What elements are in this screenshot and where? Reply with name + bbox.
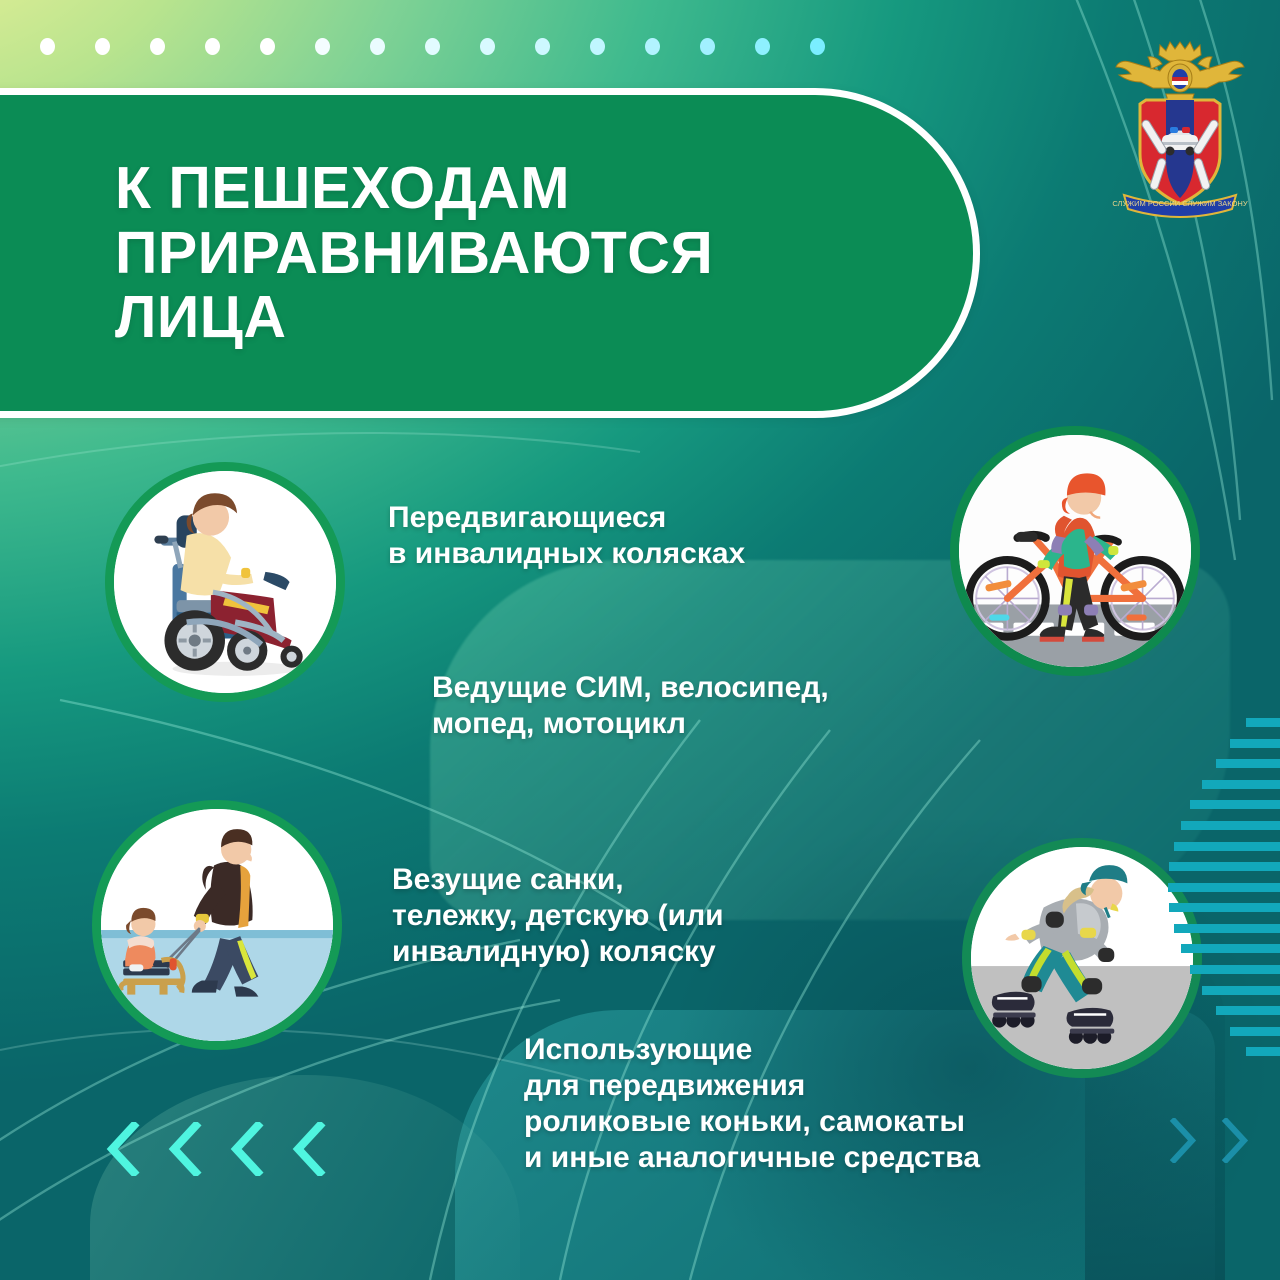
- chevrons-left: [105, 1122, 327, 1181]
- top-dot-5: [260, 38, 275, 55]
- mvd-gibdd-emblem-icon: СЛУЖИМ РОССИИ СЛУЖИМ ЗАКОНУ: [1110, 32, 1250, 220]
- edge-bar: [1190, 800, 1280, 809]
- edge-bar: [1169, 903, 1280, 912]
- item-3-line-2: тележку, детскую (или: [392, 898, 724, 934]
- right-edge-bar-pattern: [1168, 718, 1280, 1068]
- title-line-3: ЛИЦА: [115, 285, 713, 350]
- top-dot-row: [40, 38, 825, 55]
- item-4-line-1: Использующие: [524, 1032, 980, 1068]
- infographic-poster: К ПЕШЕХОДАМ ПРИРАВНИВАЮТСЯ ЛИЦА: [0, 0, 1280, 1280]
- edge-bar: [1202, 780, 1280, 789]
- top-dot-4: [205, 38, 220, 55]
- edge-bar: [1230, 1027, 1280, 1036]
- top-dot-8: [425, 38, 440, 55]
- top-dot-15: [810, 38, 825, 55]
- edge-bar: [1246, 718, 1280, 727]
- illustration-rollerblader: [962, 838, 1202, 1078]
- title-panel: К ПЕШЕХОДАМ ПРИРАВНИВАЮТСЯ ЛИЦА: [0, 88, 980, 418]
- page-title: К ПЕШЕХОДАМ ПРИРАВНИВАЮТСЯ ЛИЦА: [0, 156, 783, 351]
- title-line-1: К ПЕШЕХОДАМ: [115, 156, 713, 221]
- edge-bar: [1174, 924, 1280, 933]
- illustration-man-pulling-sled: [92, 800, 342, 1050]
- edge-bar: [1190, 965, 1280, 974]
- chevron-left-icon: [229, 1122, 265, 1181]
- edge-bar: [1168, 883, 1280, 892]
- edge-bar: [1174, 842, 1280, 851]
- edge-bar: [1216, 1006, 1280, 1015]
- top-dot-7: [370, 38, 385, 55]
- title-line-2: ПРИРАВНИВАЮТСЯ: [115, 221, 713, 286]
- illustration-wheelchair-user: [105, 462, 345, 702]
- edge-bar: [1230, 739, 1280, 748]
- chevron-right-icon: [1220, 1118, 1250, 1168]
- illustration-cyclist-walking-bicycle: [950, 426, 1200, 676]
- background-blob-lowerleft: [90, 1075, 520, 1280]
- item-4-line-2: для передвижения: [524, 1068, 980, 1104]
- cyclist-walking-bicycle-illustration: [959, 435, 1191, 667]
- item-2-line-1: Ведущие СИМ, велосипед,: [432, 670, 829, 706]
- top-dot-3: [150, 38, 165, 55]
- top-dot-12: [645, 38, 660, 55]
- item-label-wheelchair: Передвигающиеся в инвалидных колясках: [388, 500, 745, 572]
- item-3-line-3: инвалидную) коляску: [392, 934, 724, 970]
- rollerblader-illustration: [971, 847, 1193, 1069]
- item-1-line-2: в инвалидных колясках: [388, 536, 745, 572]
- chevron-right-icon: [1168, 1118, 1198, 1168]
- item-4-line-3: роликовые коньки, самокаты: [524, 1104, 980, 1140]
- chevrons-right: [1168, 1118, 1250, 1168]
- man-pulling-sled-illustration: [101, 809, 333, 1041]
- item-2-line-2: мопед, мотоцикл: [432, 706, 829, 742]
- top-dot-14: [755, 38, 770, 55]
- top-dot-13: [700, 38, 715, 55]
- top-dot-1: [40, 38, 55, 55]
- item-1-line-1: Передвигающиеся: [388, 500, 745, 536]
- top-dot-11: [590, 38, 605, 55]
- top-dot-9: [480, 38, 495, 55]
- top-dot-6: [315, 38, 330, 55]
- chevron-left-icon: [167, 1122, 203, 1181]
- item-4-line-4: и иные аналогичные средства: [524, 1140, 980, 1176]
- edge-bar: [1169, 862, 1280, 871]
- item-label-sled-stroller: Везущие санки, тележку, детскую (или инв…: [392, 862, 724, 970]
- chevron-left-icon: [105, 1122, 141, 1181]
- item-label-sim-bicycle: Ведущие СИМ, велосипед, мопед, мотоцикл: [432, 670, 829, 742]
- edge-bar: [1181, 944, 1280, 953]
- top-dot-2: [95, 38, 110, 55]
- chevron-left-icon: [291, 1122, 327, 1181]
- item-label-rollers-scooters: Использующие для передвижения роликовые …: [524, 1032, 980, 1176]
- top-dot-10: [535, 38, 550, 55]
- edge-bar: [1202, 986, 1280, 995]
- item-3-line-1: Везущие санки,: [392, 862, 724, 898]
- edge-bar: [1216, 759, 1280, 768]
- wheelchair-user-illustration: [114, 471, 336, 693]
- emblem-ribbon-text: СЛУЖИМ РОССИИ СЛУЖИМ ЗАКОНУ: [1112, 199, 1247, 208]
- edge-bar: [1181, 821, 1280, 830]
- edge-bar: [1246, 1047, 1280, 1056]
